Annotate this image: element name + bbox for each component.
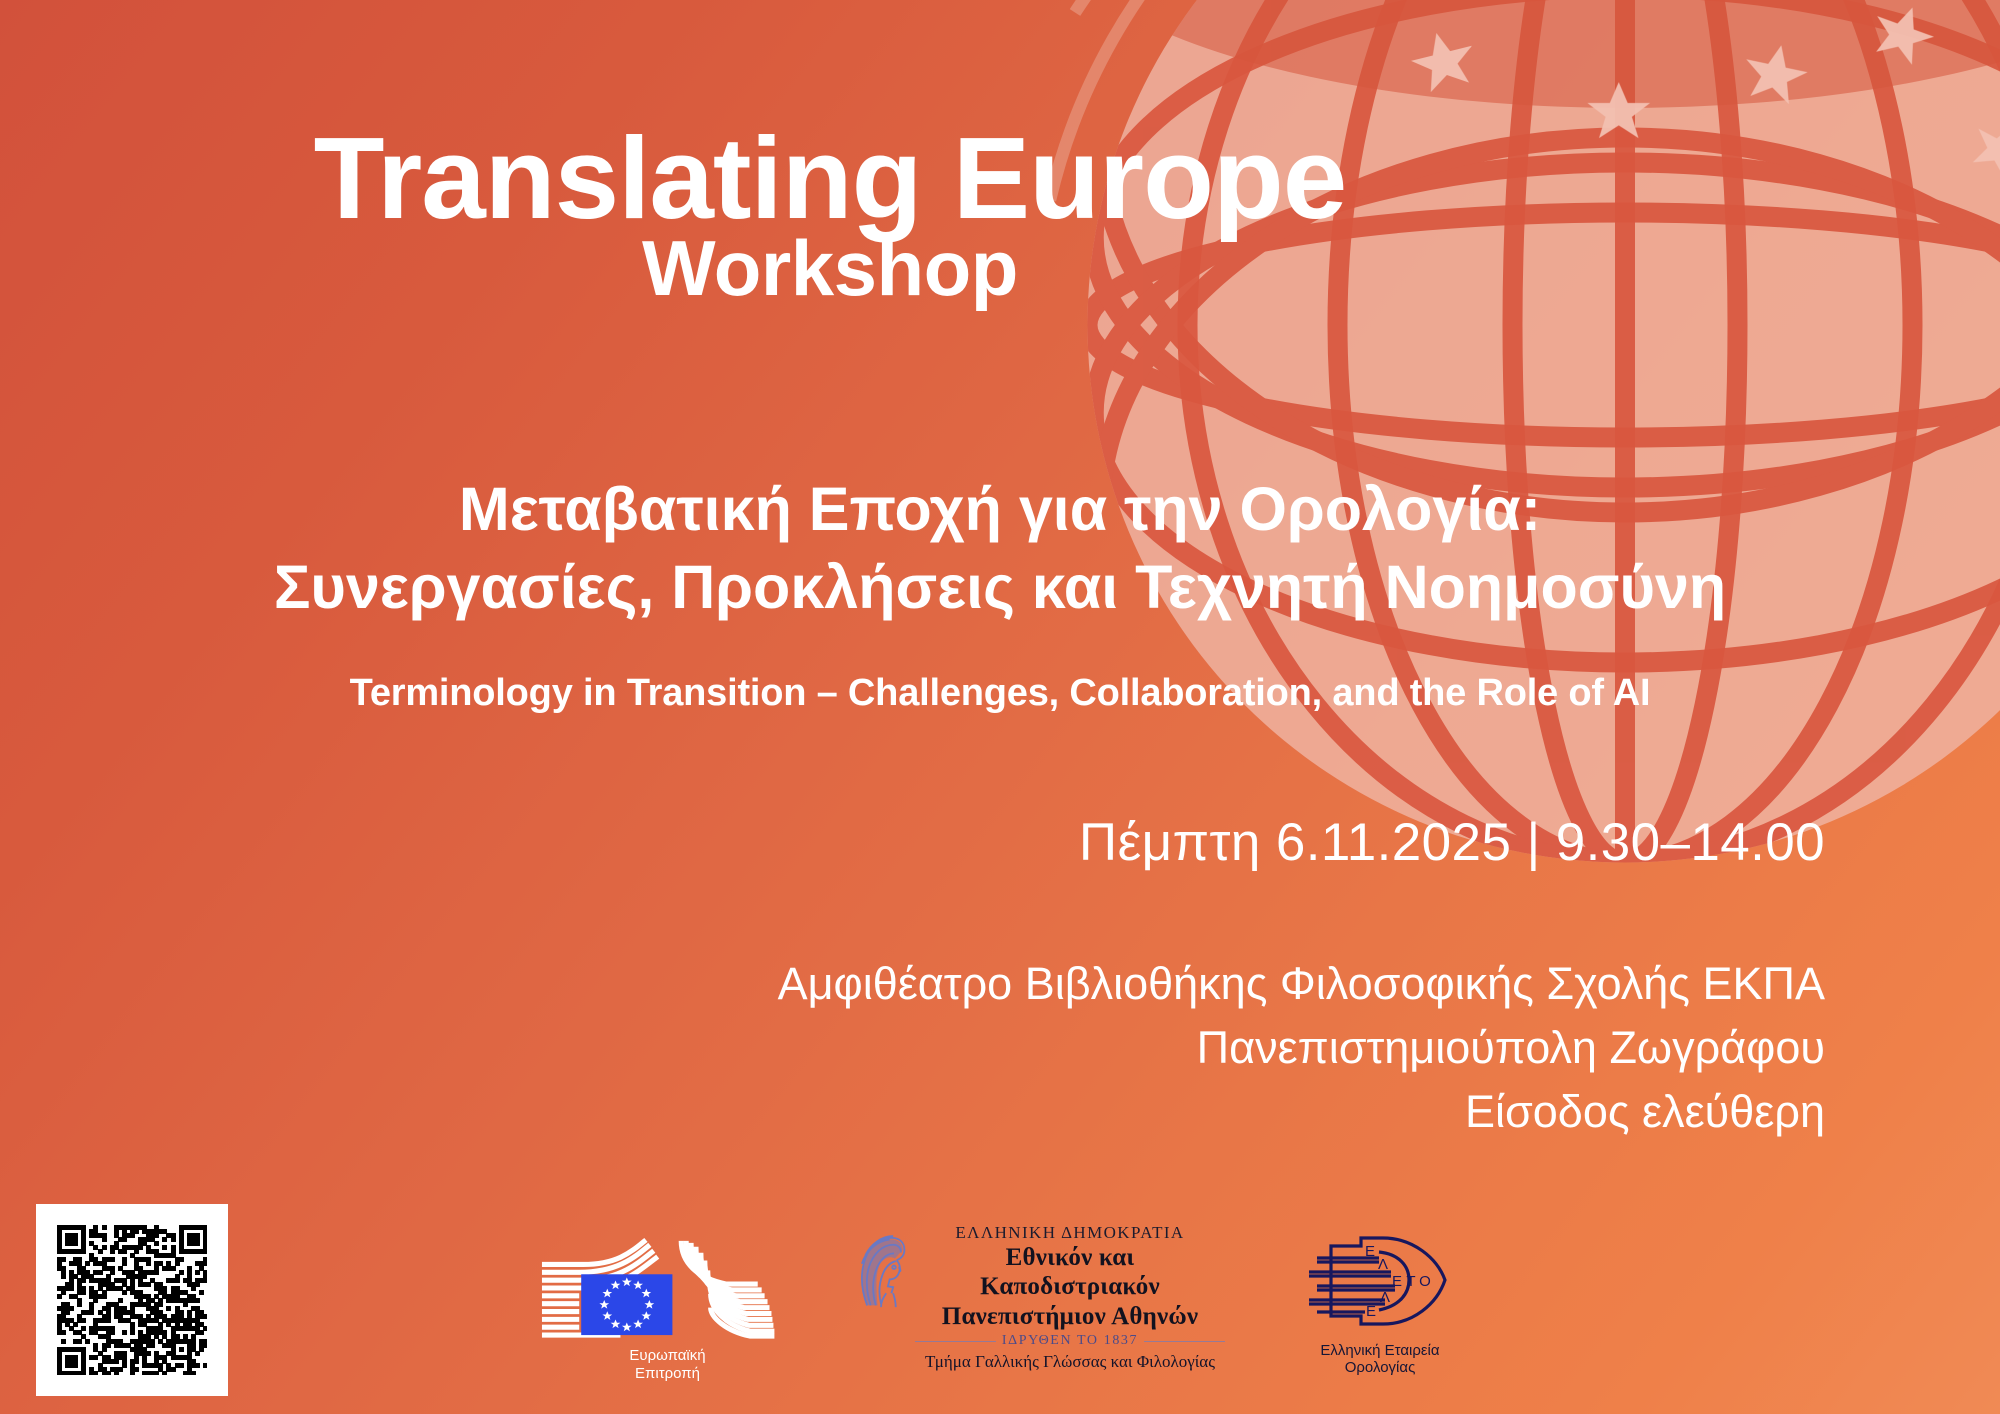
uoa-rule-right <box>1144 1341 1225 1342</box>
page-title: Translating Europe <box>0 118 1660 240</box>
ec-caption-line-1: Ευρωπαϊκή <box>540 1347 795 1366</box>
page-subtitle: Workshop <box>0 228 1660 310</box>
uoa-rule-left <box>915 1341 996 1342</box>
uoa-line-2: Εθνικόν και Καποδιστριακόν <box>915 1243 1225 1302</box>
poster-root: Translating Europe Workshop Μεταβατική Ε… <box>0 0 2000 1414</box>
svg-text:Ο: Ο <box>1419 1273 1431 1290</box>
uoa-text-block: ΕΛΛΗΝΙΚΗ ΔΗΜΟΚΡΑΤΙΑ Εθνικόν και Καποδιστ… <box>915 1223 1225 1373</box>
eleto-caption: Ελληνική Εταιρεία Ορολογίας <box>1285 1342 1475 1376</box>
greek-headline-line-2: Συνεργασίες, Προκλήσεις και Τεχνητή Νοημ… <box>60 548 1940 626</box>
greek-headline-line-1: Μεταβατική Εποχή για την Ορολογία: <box>60 470 1940 548</box>
uoa-line-5: Τμήμα Γαλλικής Γλώσσας και Φιλολογίας <box>915 1352 1225 1372</box>
event-datetime: Πέμπτη 6.11.2025 | 9.30–14.00 <box>1079 812 1825 873</box>
logo-row: Ευρωπαϊκή Επιτροπή <box>0 1198 2000 1398</box>
eleto-mark-icon: Ε Λ Ε Τ Ο Λ Ε <box>1295 1228 1465 1340</box>
venue-line-1: Αμφιθέατρο Βιβλιοθήκης Φιλοσοφικής Σχολή… <box>778 952 1825 1016</box>
greek-headline: Μεταβατική Εποχή για την Ορολογία: Συνερ… <box>0 470 2000 626</box>
ec-caption-line-2: Επιτροπή <box>540 1365 795 1384</box>
svg-text:Ε: Ε <box>1366 1303 1376 1320</box>
uoa-line-3: Πανεπιστήμιον Αθηνών <box>915 1302 1225 1332</box>
svg-text:Ε: Ε <box>1365 1243 1375 1260</box>
uoa-line-1: ΕΛΛΗΝΙΚΗ ΔΗΜΟΚΡΑΤΙΑ <box>915 1223 1225 1243</box>
uoa-line-4: ΙΔΡΥΘΕΝ ΤΟ 1837 <box>915 1333 1225 1349</box>
uoa-founded-text: ΙΔΡΥΘΕΝ ΤΟ 1837 <box>1002 1333 1138 1349</box>
eleto-logo: Ε Λ Ε Τ Ο Λ Ε Ελληνική Εταιρεία Ορολογία… <box>1285 1228 1475 1376</box>
uoa-athena-seal-icon <box>855 1229 907 1309</box>
venue-line-3: Είσοδος ελεύθερη <box>778 1080 1825 1144</box>
svg-text:Λ: Λ <box>1378 1256 1388 1273</box>
uoa-logo: ΕΛΛΗΝΙΚΗ ΔΗΜΟΚΡΑΤΙΑ Εθνικόν και Καποδιστ… <box>855 1223 1225 1373</box>
english-subtitle: Terminology in Transition – Challenges, … <box>0 672 2000 715</box>
european-commission-logo: Ευρωπαϊκή Επιτροπή <box>540 1233 795 1385</box>
venue-line-2: Πανεπιστημιούπολη Ζωγράφου <box>778 1016 1825 1080</box>
svg-text:Λ: Λ <box>1380 1289 1390 1306</box>
svg-text:Τ: Τ <box>1406 1273 1415 1290</box>
svg-text:Ε: Ε <box>1392 1273 1402 1290</box>
european-commission-caption: Ευρωπαϊκή Επιτροπή <box>540 1347 795 1385</box>
event-venue: Αμφιθέατρο Βιβλιοθήκης Φιλοσοφικής Σχολή… <box>778 952 1825 1144</box>
